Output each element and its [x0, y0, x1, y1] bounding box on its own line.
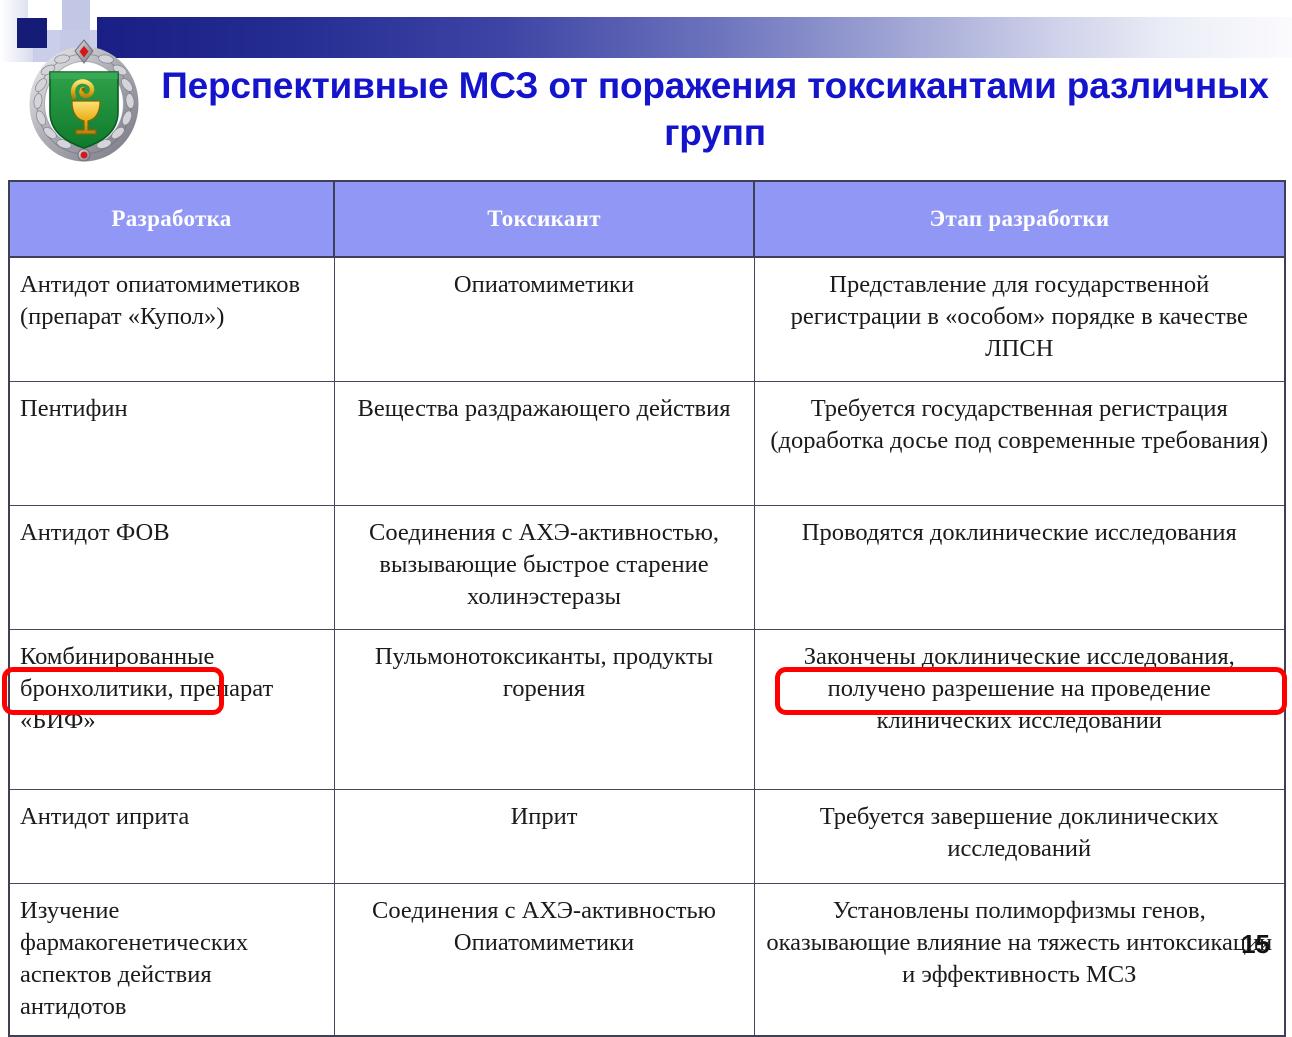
table-header-row: Разработка Токсикант Этап разработки: [9, 181, 1285, 257]
military-medical-emblem-icon: [24, 38, 144, 164]
header-decoration-band: [0, 0, 1292, 62]
cell-toxicant: Вещества раздражающего действия: [334, 382, 754, 506]
table-row: Антидот иприта Иприт Требуется завершени…: [9, 790, 1285, 884]
cell-development: Антидот опиатомиметиков (препарат «Купол…: [9, 257, 334, 382]
table-row: Антидот опиатомиметиков (препарат «Купол…: [9, 257, 1285, 382]
slide-number: 15: [1241, 929, 1270, 960]
cell-development: Изучение фармакогенетических аспектов де…: [9, 884, 334, 1037]
cell-toxicant: Пульмонотоксиканты, продукты горения: [334, 630, 754, 790]
table-row: Комбинированные бронхолитики, препарат «…: [9, 630, 1285, 790]
cell-stage: Установлены полиморфизмы генов, оказываю…: [754, 884, 1285, 1037]
cell-stage: Закончены доклинические исследования, по…: [754, 630, 1285, 790]
development-status-table-wrapper: Разработка Токсикант Этап разработки Ант…: [8, 180, 1284, 1037]
header-gradient-bar: [97, 17, 1292, 58]
cell-stage: Проводятся доклинические исследования: [754, 506, 1285, 630]
table-row-highlighted: Антидот ФОВ Соединения с АХЭ-активностью…: [9, 506, 1285, 630]
cell-development: Комбинированные бронхолитики, препарат «…: [9, 630, 334, 790]
cell-stage: Представление для государственной регист…: [754, 257, 1285, 382]
cell-toxicant: Иприт: [334, 790, 754, 884]
cell-development: Пентифин: [9, 382, 334, 506]
cell-toxicant: Опиатомиметики: [334, 257, 754, 382]
cell-development: Антидот иприта: [9, 790, 334, 884]
slide-title: Перспективные МСЗ от поражения токсикант…: [150, 62, 1280, 156]
table-row: Изучение фармакогенетических аспектов де…: [9, 884, 1285, 1037]
development-status-table: Разработка Токсикант Этап разработки Ант…: [8, 180, 1286, 1037]
cell-development: Антидот ФОВ: [9, 506, 334, 630]
column-header-toxicant: Токсикант: [334, 181, 754, 257]
column-header-stage: Этап разработки: [754, 181, 1285, 257]
table-row: Пентифин Вещества раздражающего действия…: [9, 382, 1285, 506]
cell-toxicant: Соединения с АХЭ-активностью Опиатомимет…: [334, 884, 754, 1037]
cell-stage: Требуется государственная регистрация (д…: [754, 382, 1285, 506]
cell-toxicant: Соединения с АХЭ-активностью, вызывающие…: [334, 506, 754, 630]
cell-stage: Требуется завершение доклинических иссле…: [754, 790, 1285, 884]
column-header-development: Разработка: [9, 181, 334, 257]
